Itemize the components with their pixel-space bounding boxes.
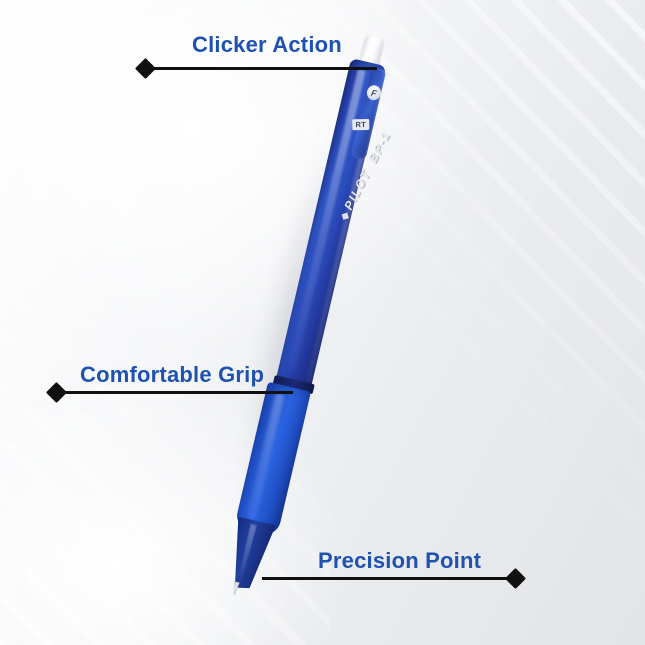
pen-tip-cone <box>222 516 277 593</box>
pen-mechanism-badge: RT <box>352 119 369 130</box>
callout-label-clicker-action: Clicker Action <box>192 32 342 58</box>
callout-label-comfortable-grip: Comfortable Grip <box>80 362 264 388</box>
callout-label-precision-point: Precision Point <box>318 548 481 574</box>
product-annotation-image: F RT ◆PILOT BP-1 Clicker Action Comforta… <box>0 0 645 645</box>
callout-leader-line-clicker-action <box>145 67 377 70</box>
callout-leader-line-comfortable-grip <box>57 391 293 394</box>
callout-leader-line-precision-point <box>262 577 514 580</box>
